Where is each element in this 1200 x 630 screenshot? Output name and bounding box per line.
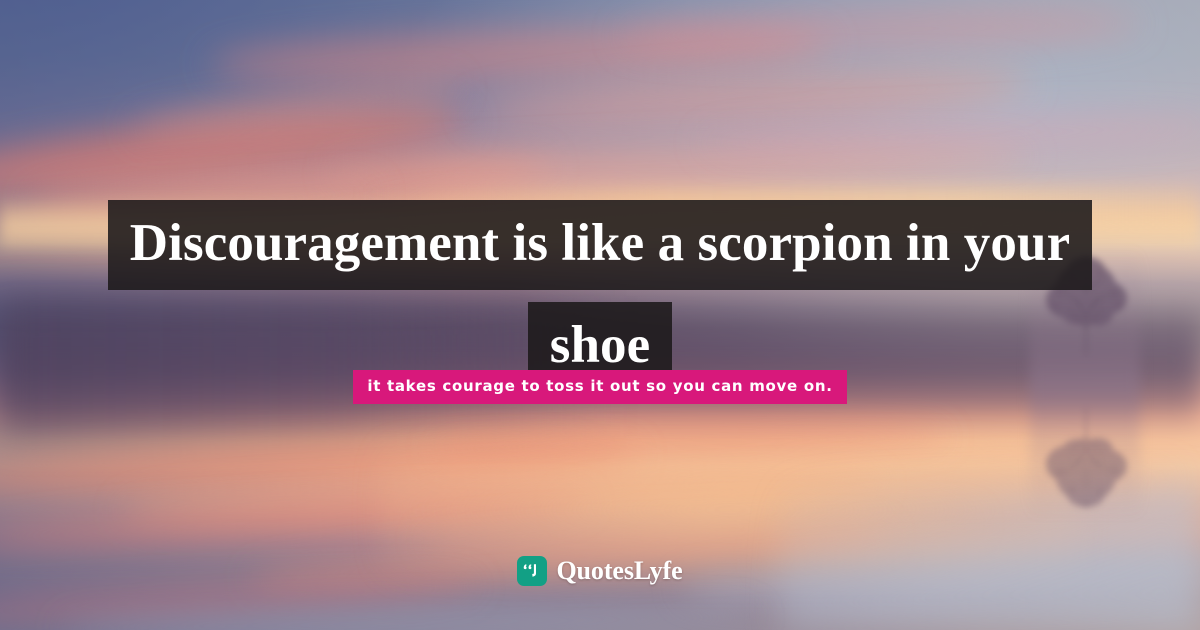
- quote-line-1-row: Discouragement is like a scorpion in you…: [0, 200, 1200, 290]
- quote-text-block: Discouragement is like a scorpion in you…: [0, 200, 1200, 392]
- brand-name: QuotesLyfe: [556, 558, 682, 584]
- water-reflection-streak: [60, 602, 760, 630]
- quote-line-1: Discouragement is like a scorpion in you…: [108, 200, 1092, 290]
- cloud-streak: [209, 19, 830, 89]
- quote-card: Discouragement is like a scorpion in you…: [0, 0, 1200, 630]
- cloud-streak: [620, 3, 1141, 57]
- quote-mark-glyph: [521, 560, 543, 582]
- cloud-streak: [130, 75, 461, 141]
- cloud-streak: [700, 111, 1200, 159]
- subtitle-text: it takes courage to toss it out so you c…: [353, 370, 846, 404]
- brand-logo[interactable]: QuotesLyfe: [0, 556, 1200, 586]
- quote-mark-icon: [517, 556, 547, 586]
- subtitle-row: it takes courage to toss it out so you c…: [0, 370, 1200, 404]
- cloud-streak: [330, 139, 1031, 191]
- cloud-streak: [469, 61, 1031, 134]
